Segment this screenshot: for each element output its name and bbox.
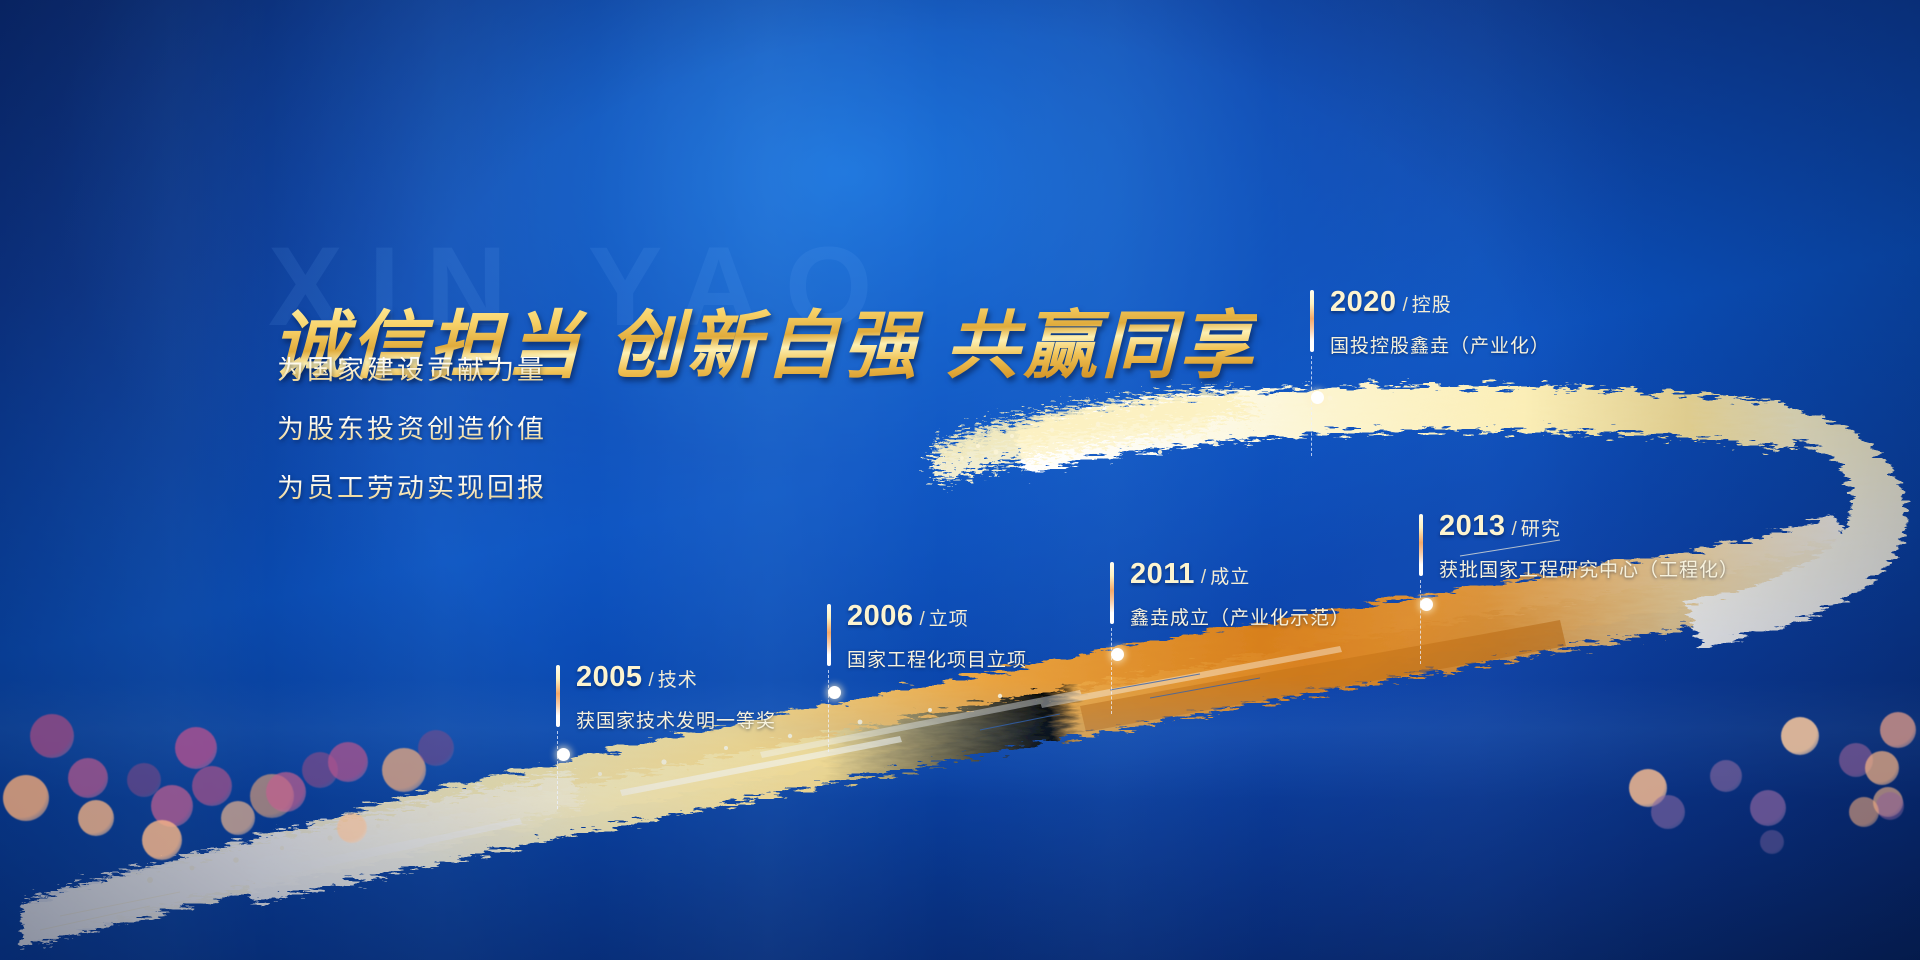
milestone-text: 2020/控股国投控股鑫垚（产业化）: [1330, 288, 1550, 358]
bokeh-light: [1651, 795, 1685, 829]
milestone-connector-line: [1111, 628, 1112, 714]
bokeh-light: [1880, 712, 1916, 748]
banner-canvas: XIN YAO 诚信担当 创新自强 共赢同享 为国家建设贡献力量 为股东投资创造…: [0, 0, 1920, 960]
bokeh-light: [30, 714, 74, 758]
milestone-year: 2011: [1130, 558, 1195, 590]
bokeh-light: [1710, 760, 1742, 792]
bokeh-light: [250, 774, 294, 818]
milestone-connector-line: [557, 731, 558, 809]
milestone-dot[interactable]: [828, 686, 841, 699]
bokeh-light: [382, 748, 426, 792]
milestone-dot[interactable]: [1111, 648, 1124, 661]
milestone-heading: 2006/立项: [847, 602, 1027, 631]
bokeh-light: [1629, 769, 1667, 807]
milestone-category: 立项: [929, 609, 969, 630]
milestone-year: 2013: [1439, 510, 1506, 542]
slogan-line-1: 为国家建设贡献力量: [277, 357, 547, 384]
milestone-connector-line: [1311, 356, 1312, 456]
milestone-text: 2006/立项国家工程化项目立项: [847, 602, 1027, 672]
milestone-dot[interactable]: [1311, 391, 1324, 404]
milestone-category: 成立: [1210, 567, 1250, 588]
milestone-separator: /: [1403, 295, 1408, 316]
milestone-dot[interactable]: [1420, 598, 1433, 611]
bokeh-light: [151, 785, 193, 827]
milestone-category: 控股: [1412, 295, 1452, 316]
milestone-connector-line: [1420, 580, 1421, 664]
bokeh-light: [1873, 787, 1903, 817]
bokeh-light: [142, 820, 182, 860]
milestone-year: 2005: [576, 661, 643, 693]
milestone-category: 研究: [1521, 519, 1561, 540]
milestone-description: 鑫垚成立（产业化示范）: [1130, 603, 1350, 630]
milestone-heading: 2013/研究: [1439, 512, 1739, 541]
milestone-heading: 2020/控股: [1330, 288, 1550, 317]
milestone-text: 2011/成立鑫垚成立（产业化示范）: [1130, 560, 1350, 630]
bokeh-light: [266, 772, 306, 812]
milestone-connector-line: [828, 670, 829, 752]
bokeh-light: [1839, 743, 1873, 777]
bokeh-light: [3, 775, 49, 821]
milestone-accent-bar: [1310, 290, 1314, 352]
milestone-accent-bar: [556, 665, 560, 727]
horizon-light-band: [0, 680, 1920, 800]
milestone-description: 国投控股鑫垚（产业化）: [1330, 331, 1550, 358]
bokeh-light: [1849, 797, 1879, 827]
milestone-year: 2020: [1330, 286, 1397, 318]
bokeh-light: [175, 727, 217, 769]
milestone-separator: /: [649, 670, 654, 691]
milestone-accent-bar: [1419, 514, 1423, 576]
bokeh-light: [1876, 792, 1904, 820]
bokeh-light: [302, 752, 338, 788]
bokeh-light: [1760, 830, 1784, 854]
milestone-dot[interactable]: [557, 748, 570, 761]
bokeh-light: [337, 813, 367, 843]
milestone-separator: /: [920, 609, 925, 630]
slogan-line-3: 为员工劳动实现回报: [277, 475, 547, 502]
bokeh-light: [1781, 717, 1819, 755]
bokeh-light: [1750, 790, 1786, 826]
bokeh-light: [192, 766, 232, 806]
bokeh-light: [78, 800, 114, 836]
milestone-separator: /: [1512, 519, 1517, 540]
milestone-text: 2005/技术获国家技术发明一等奖: [576, 663, 776, 733]
milestone-category: 技术: [658, 670, 698, 691]
milestone-separator: /: [1201, 567, 1206, 588]
bokeh-light: [328, 742, 368, 782]
bokeh-light: [127, 763, 161, 797]
milestone-text: 2013/研究获批国家工程研究中心（工程化）: [1439, 512, 1739, 582]
milestone-description: 国家工程化项目立项: [847, 645, 1027, 672]
milestone-year: 2006: [847, 600, 914, 632]
milestone-accent-bar: [827, 604, 831, 666]
slogan-line-2: 为股东投资创造价值: [277, 416, 547, 443]
milestone-accent-bar: [1110, 562, 1114, 624]
bokeh-light: [418, 730, 454, 766]
bokeh-light: [1865, 751, 1899, 785]
milestone-heading: 2011/成立: [1130, 560, 1350, 589]
milestone-heading: 2005/技术: [576, 663, 776, 692]
bokeh-light: [68, 758, 108, 798]
bokeh-light: [221, 801, 255, 835]
slogan-list: 为国家建设贡献力量 为股东投资创造价值 为员工劳动实现回报: [277, 357, 547, 534]
milestone-description: 获批国家工程研究中心（工程化）: [1439, 555, 1739, 582]
milestone-description: 获国家技术发明一等奖: [576, 706, 776, 733]
